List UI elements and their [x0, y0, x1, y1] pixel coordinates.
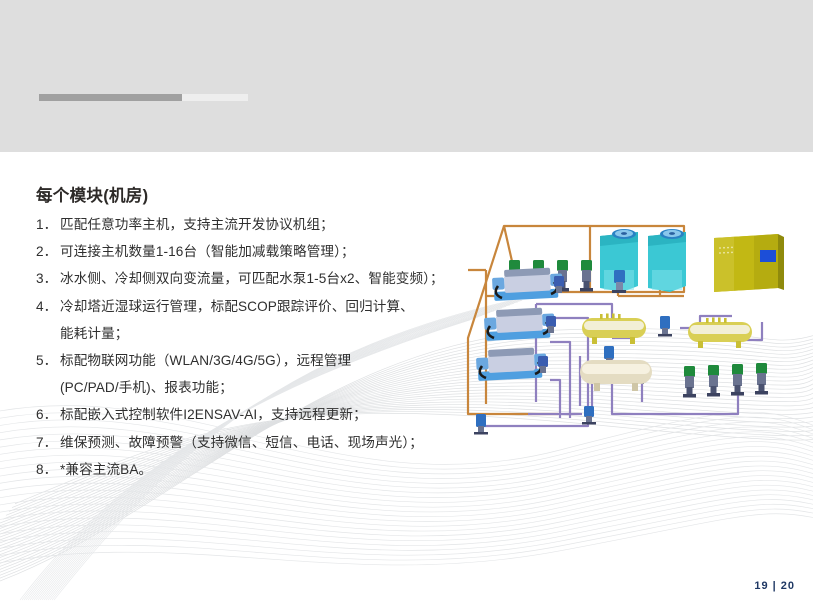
list-item-number: 5．: [36, 354, 60, 368]
section-heading: 每个模块(机房): [36, 182, 148, 206]
chiller-1: [492, 268, 563, 301]
cabinet-screen: [760, 250, 776, 262]
chilled-pump-2: [707, 365, 720, 397]
feature-list-item: 8．*兼容主流BA。: [36, 463, 506, 477]
header-band: [0, 0, 813, 152]
list-item-text: 标配物联网功能（WLAN/3G/4G/5G），远程管理: [60, 353, 351, 368]
bottom-loop-valve: [474, 414, 488, 435]
list-item-text: (PC/PAD/手机)、报表功能；: [60, 380, 233, 395]
list-item-number: 8．: [36, 463, 60, 477]
water-tank-1: [582, 314, 646, 345]
list-item-text: 冰水侧、冷却侧双向变流量，可匹配水泵1-5台x2、智能变频）；: [60, 271, 444, 286]
slide-canvas: I2ENSAV-HC 水冷系统节能智控模块(机房) 每个模块(机房) 1．匹配任…: [0, 0, 813, 608]
page-number: 19 | 20: [754, 580, 795, 592]
list-item-text: 维保预测、故障预警（支持微信、短信、电话、现场声光）；: [60, 435, 423, 450]
list-item-text: 可连接主机数量1-16台（智能加减载策略管理）；: [60, 244, 355, 259]
chiller-2: [484, 308, 555, 341]
cooling-tower-2: [648, 229, 686, 292]
list-item-number: 2．: [36, 245, 60, 259]
list-item-text: *兼容主流BA。: [60, 462, 152, 477]
list-item-text: 能耗计量；: [60, 326, 128, 341]
list-item-number: 1．: [36, 218, 60, 232]
title-divider-light-segment: [182, 94, 248, 101]
water-tank-2: [688, 318, 752, 349]
list-item-number: 7．: [36, 436, 60, 450]
list-item-number: 6．: [36, 408, 60, 422]
chilled-pump-3: [731, 364, 744, 396]
title-divider-dark-segment: [39, 94, 182, 101]
control-cabinet: [714, 234, 784, 292]
list-item-text: 标配嵌入式控制软件I2ENSAV-AI，支持远程更新；: [60, 407, 367, 422]
chilled-pump-1: [683, 366, 696, 398]
inter-tank-valve: [658, 316, 672, 337]
list-item-text: 匹配任意功率主机，支持主流开发协议机组；: [60, 217, 334, 232]
chilled-pump-bank: [683, 363, 768, 398]
list-item-text: 冷却塔近湿球运行管理，标配SCOP跟踪评价、回归计算、: [60, 299, 414, 314]
title-divider: [39, 94, 248, 101]
hvac-system-diagram: [432, 218, 804, 440]
list-item-number: 4．: [36, 300, 60, 314]
chilled-pump-4: [755, 363, 768, 395]
list-item-number: 3．: [36, 272, 60, 286]
